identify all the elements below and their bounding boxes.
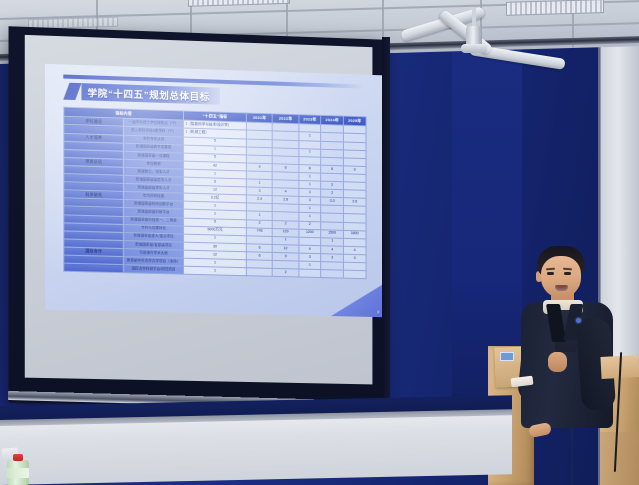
screen-surface: 学院“十四五”规划总体目标 指标内容 “十四五”指标 2021年 2022年 2…: [25, 35, 373, 385]
projection-screen: 学院“十四五”规划总体目标 指标内容 “十四五”指标 2021年 2022年 2…: [9, 26, 384, 409]
table-body: 学科建设一级学科博士学位授权点（个）1（智能科学与技术/设计学）进入学科评估A类…: [64, 117, 366, 279]
lecture-hall-photo: 学院“十四五”规划总体目标 指标内容 “十四五”指标 2021年 2022年 2…: [0, 0, 639, 485]
ceiling-light-panel: [506, 0, 604, 16]
slide-title-background: 学院“十四五”规划总体目标: [81, 83, 219, 105]
row-y2024: [321, 270, 343, 279]
row-category: [64, 263, 124, 273]
row-y2021: [247, 268, 273, 277]
presenter-eye: [547, 272, 554, 275]
lapel-pin-icon: [576, 318, 581, 323]
presentation-slide: 学院“十四五”规划总体目标 指标内容 “十四五”指标 2021年 2022年 2…: [45, 64, 384, 317]
trouser-seam: [571, 424, 573, 485]
wall-speaker: [382, 37, 390, 407]
lectern-right-base: [600, 432, 639, 485]
row-y2022: 2: [273, 268, 299, 277]
water-bottle: [5, 452, 31, 485]
slide-title: 学院“十四五”规划总体目标: [88, 85, 210, 103]
goals-table: 指标内容 “十四五”指标 2021年 2022年 2023年 2024年 202…: [63, 107, 366, 280]
bottle-cap: [13, 454, 23, 461]
ceiling-fan-cap: [461, 44, 487, 53]
presenter-eye: [564, 272, 571, 275]
row-y2025: [343, 270, 366, 279]
row-y2023: [299, 269, 321, 278]
presenter-face: [541, 256, 581, 298]
slide-page-number: 8: [377, 310, 379, 314]
slide-corner-decoration: [331, 282, 384, 317]
presenter-mouth: [555, 285, 568, 291]
chevron-accent-icon: [63, 83, 81, 101]
bottle-label: [7, 468, 29, 478]
row-target-value: 1: [183, 266, 246, 276]
presenter-raised-hand: [548, 352, 567, 372]
row-indicator: 国际合作科研平台/研究项目: [124, 265, 184, 275]
slide-title-bar: 学院“十四五”规划总体目标: [63, 83, 219, 105]
